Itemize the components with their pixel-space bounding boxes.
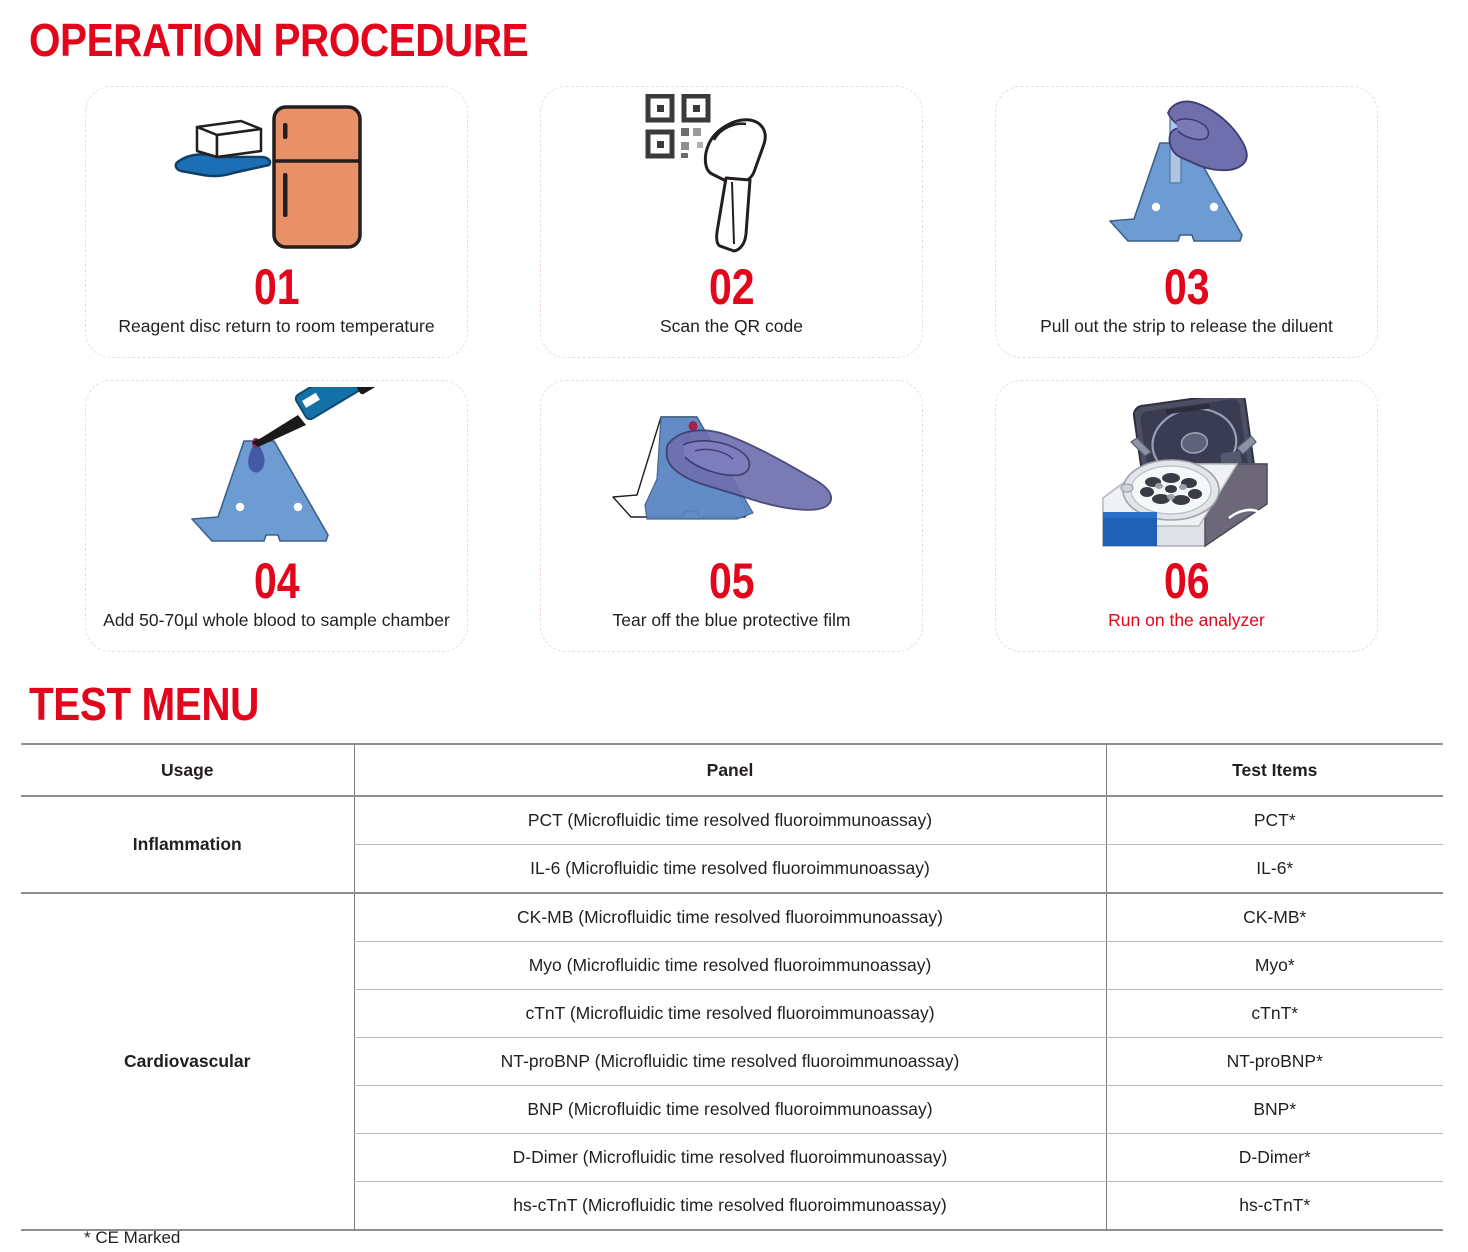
column-header-usage: Usage	[21, 744, 354, 796]
test-item-cell: NT-proBNP*	[1106, 1038, 1443, 1086]
test-item-cell: PCT*	[1106, 796, 1443, 845]
panel-cell: BNP (Microfluidic time resolved fluoroim…	[354, 1086, 1106, 1134]
step-card-06[interactable]: 06 Run on the analyzer	[995, 380, 1378, 652]
panel-cell: IL-6 (Microfluidic time resolved fluoroi…	[354, 845, 1106, 894]
panel-cell: D-Dimer (Microfluidic time resolved fluo…	[354, 1134, 1106, 1182]
step-card-03[interactable]: 03 Pull out the strip to release the dil…	[995, 86, 1378, 358]
test-item-cell: Myo*	[1106, 942, 1443, 990]
usage-cell-inflammation: Inflammation	[21, 796, 354, 893]
table-header-row: Usage Panel Test Items	[21, 744, 1443, 796]
usage-cell-cardiovascular: Cardiovascular	[21, 893, 354, 1230]
step-card-02[interactable]: 02 Scan the QR code	[540, 86, 923, 358]
panel-cell: PCT (Microfluidic time resolved fluoroim…	[354, 796, 1106, 845]
panel-cell: CK-MB (Microfluidic time resolved fluoro…	[354, 893, 1106, 942]
step-caption: Run on the analyzer	[1108, 610, 1265, 631]
step-card-01[interactable]: 01 Reagent disc return to room temperatu…	[85, 86, 468, 358]
panel-cell: Myo (Microfluidic time resolved fluoroim…	[354, 942, 1106, 990]
step-caption: Reagent disc return to room temperature	[118, 316, 434, 337]
test-item-cell: hs-cTnT*	[1106, 1182, 1443, 1231]
panel-cell: hs-cTnT (Microfluidic time resolved fluo…	[354, 1182, 1106, 1231]
poster-page: OPERATION PROCEDURE 01	[0, 0, 1468, 1252]
step-number: 06	[1164, 558, 1210, 604]
analyzer-machine-icon	[996, 385, 1377, 560]
gloved-hand-peeling-film-icon	[541, 385, 922, 560]
step-caption: Scan the QR code	[660, 316, 803, 337]
test-item-cell: D-Dimer*	[1106, 1134, 1443, 1182]
table-row: Inflammation PCT (Microfluidic time reso…	[21, 796, 1443, 845]
table-body: Inflammation PCT (Microfluidic time reso…	[21, 796, 1443, 1230]
column-header-test-items: Test Items	[1106, 744, 1443, 796]
step-number: 02	[709, 264, 755, 310]
steps-grid: 01 Reagent disc return to room temperatu…	[85, 86, 1383, 652]
test-item-cell: cTnT*	[1106, 990, 1443, 1038]
test-item-cell: BNP*	[1106, 1086, 1443, 1134]
fridge-with-hand-holding-box-icon	[86, 91, 467, 266]
step-number: 03	[1164, 264, 1210, 310]
ce-marked-footnote: * CE Marked	[84, 1228, 180, 1248]
step-number: 01	[254, 264, 300, 310]
test-menu-table: Usage Panel Test Items Inflammation PCT …	[21, 743, 1443, 1231]
table-row: Cardiovascular CK-MB (Microfluidic time …	[21, 893, 1443, 942]
test-item-cell: IL-6*	[1106, 845, 1443, 894]
step-number: 04	[254, 558, 300, 604]
panel-cell: cTnT (Microfluidic time resolved fluoroi…	[354, 990, 1106, 1038]
step-caption: Tear off the blue protective film	[613, 610, 851, 631]
step-caption: Add 50-70µl whole blood to sample chambe…	[103, 610, 450, 631]
table-head: Usage Panel Test Items	[21, 744, 1443, 796]
test-menu-title: TEST MENU	[29, 681, 259, 727]
step-caption: Pull out the strip to release the diluen…	[1040, 316, 1333, 337]
gloved-hand-pulling-strip-icon	[996, 91, 1377, 266]
step-number: 05	[709, 558, 755, 604]
pipette-adding-blood-icon	[86, 385, 467, 560]
step-card-04[interactable]: 04 Add 50-70µl whole blood to sample cha…	[85, 380, 468, 652]
step-card-05[interactable]: 05 Tear off the blue protective film	[540, 380, 923, 652]
operation-procedure-title: OPERATION PROCEDURE	[29, 17, 528, 63]
column-header-panel: Panel	[354, 744, 1106, 796]
test-item-cell: CK-MB*	[1106, 893, 1443, 942]
panel-cell: NT-proBNP (Microfluidic time resolved fl…	[354, 1038, 1106, 1086]
qr-code-scanner-icon	[541, 91, 922, 266]
